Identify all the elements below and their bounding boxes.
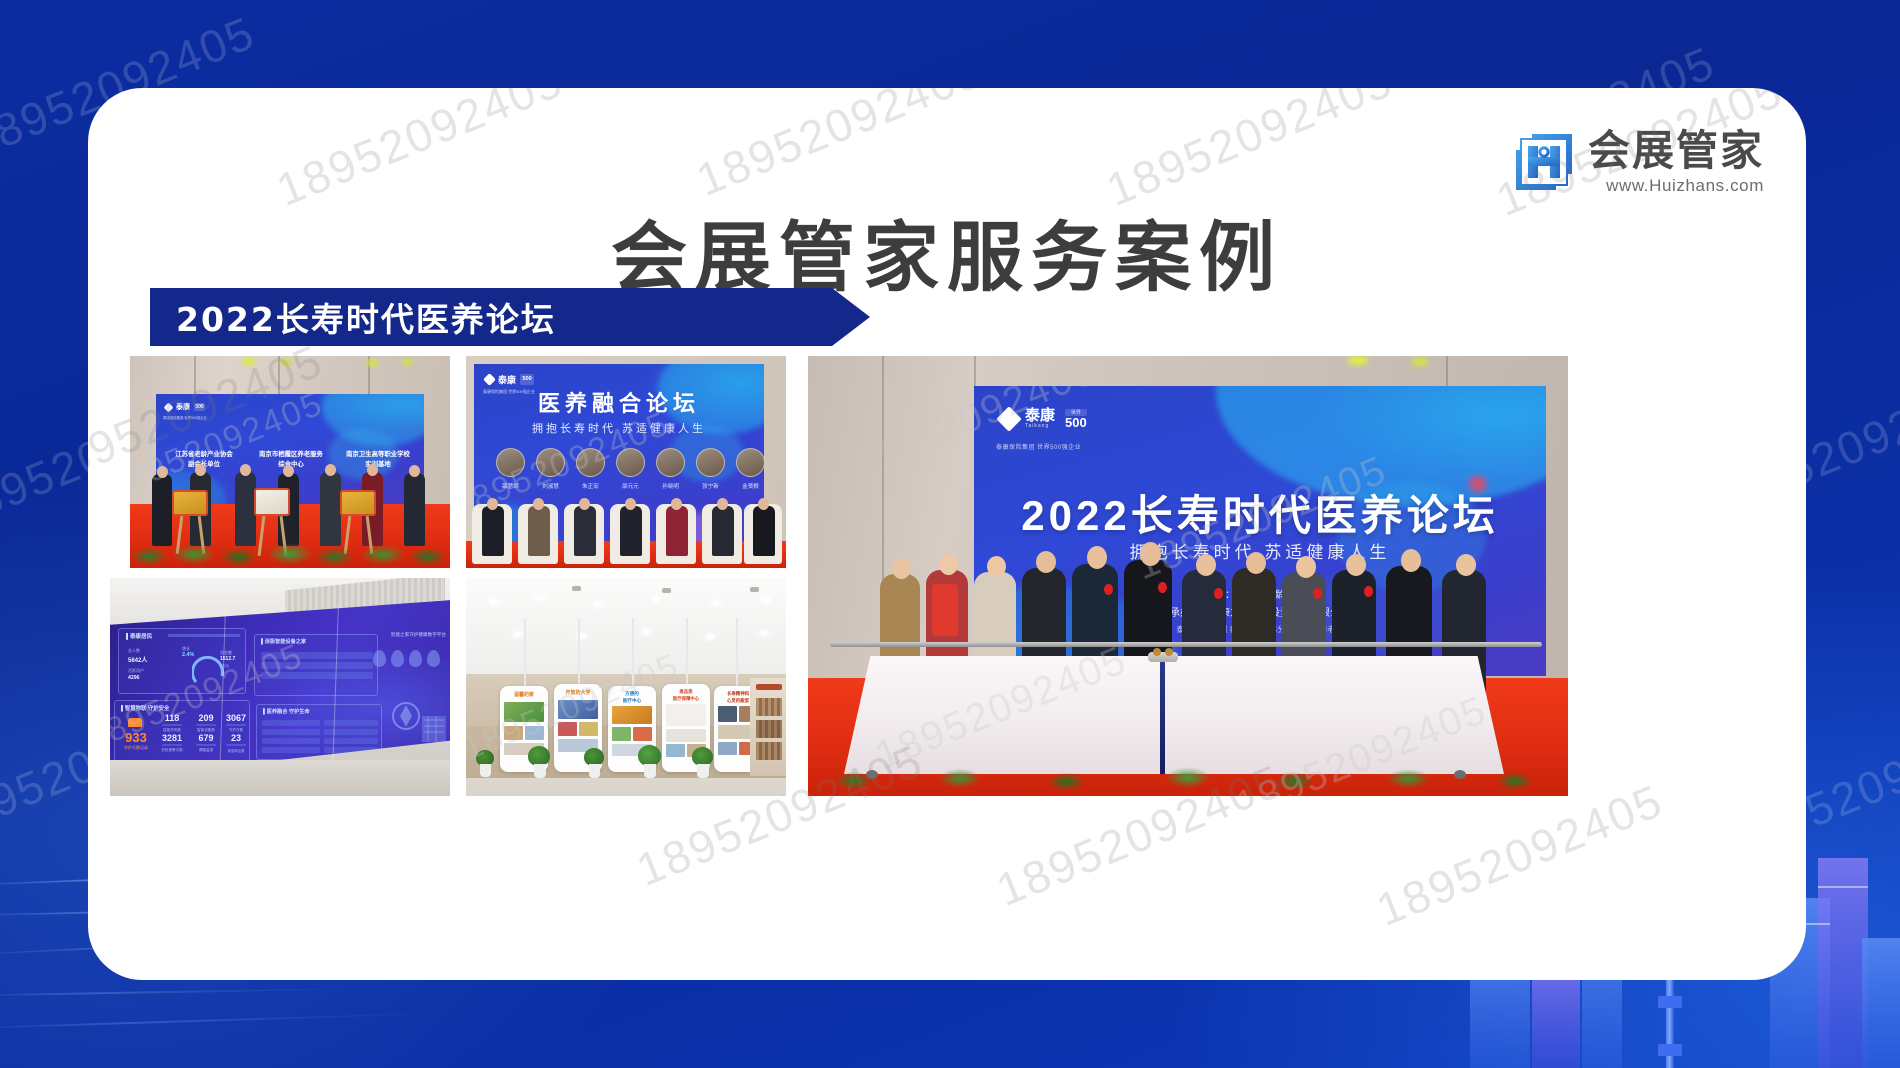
- brand-url: www.Huizhans.com: [1588, 176, 1764, 196]
- photo-gallery: 泰康 500 泰康保险集团 世界500强企业 江苏省老龄产业协会副会长单位 南京…: [108, 356, 1788, 936]
- bg-wave-line: [0, 1012, 460, 1030]
- huizhans-logo-mark-icon: [1512, 130, 1576, 194]
- photo-forum-panel[interactable]: 泰康 500 泰康保险集团 世界500强企业 医养融合论坛 拥抱长寿时代 苏适健…: [466, 356, 786, 568]
- brand-name: 会展管家: [1588, 130, 1764, 173]
- photo-data-dashboard[interactable]: ▌泰康居民 总人数 5642人 活跃用户 4296 增长 2.4% 总金额 15…: [110, 578, 450, 796]
- bg-wave-line: [0, 987, 370, 997]
- section-banner: 2022长寿时代医养论坛: [150, 288, 870, 346]
- photo-main-stage[interactable]: 泰康 Taikang 世界 500 泰康保险集团 世界500强企业 2022长寿…: [808, 356, 1568, 796]
- photo-exhibition-hall[interactable]: 温馨的家 开放的大学 方便的医疗中心: [466, 578, 786, 796]
- content-card: 会展管家 www.Huizhans.com 会展管家服务案例 2022长寿时代医…: [88, 88, 1806, 980]
- photo-plaque-ceremony[interactable]: 泰康 500 泰康保险集团 世界500强企业 江苏省老龄产业协会副会长单位 南京…: [130, 356, 450, 568]
- section-banner-label: 2022长寿时代医养论坛: [176, 293, 556, 341]
- brand-logo: 会展管家 www.Huizhans.com: [1512, 130, 1764, 196]
